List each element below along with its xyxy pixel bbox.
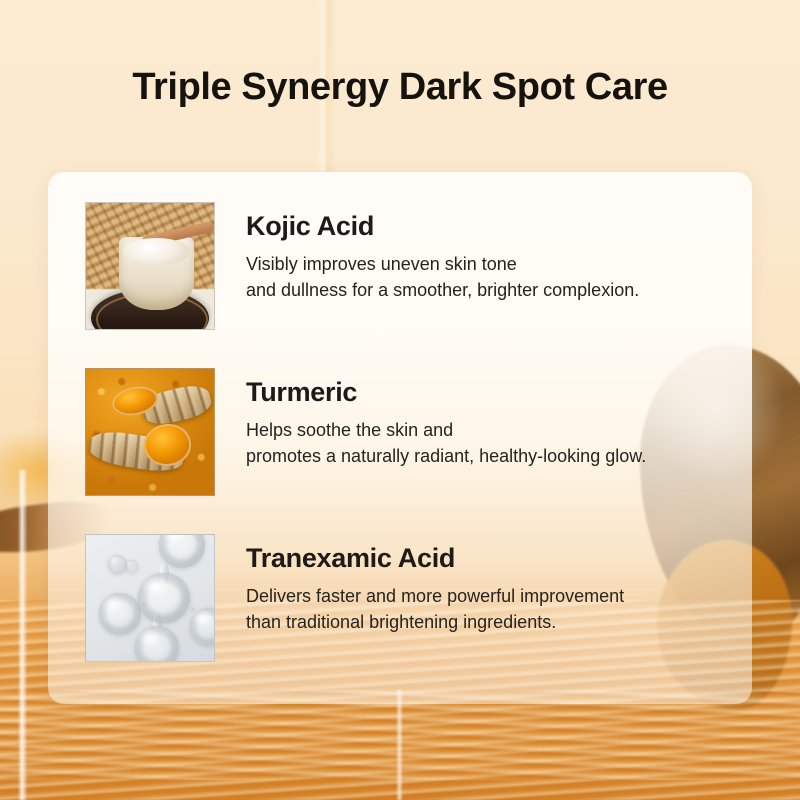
ingredient-name: Tranexamic Acid <box>246 542 624 574</box>
white-paste-shape <box>123 238 190 264</box>
turmeric-image <box>85 368 215 496</box>
molecule-sphere <box>99 593 141 635</box>
ingredient-description-line-1: Visibly improves uneven skin tone <box>246 251 639 277</box>
molecule-bubble <box>126 560 139 573</box>
ingredient-panel: Kojic Acid Visibly improves uneven skin … <box>48 172 752 704</box>
background-glass-jar-edge-left <box>18 470 27 800</box>
ingredient-description-line-2: than traditional brightening ingredients… <box>246 609 624 635</box>
turmeric-text-block: Turmeric Helps soothe the skin and promo… <box>246 358 646 469</box>
ingredient-description-line-1: Helps soothe the skin and <box>246 417 646 443</box>
molecule-sphere <box>135 626 180 662</box>
ingredient-card-tranexamic-acid: Tranexamic Acid Delivers faster and more… <box>48 524 752 692</box>
molecule-sphere <box>190 608 215 646</box>
ingredient-name: Turmeric <box>246 376 646 408</box>
background-glass-jar-edge-center <box>396 690 403 800</box>
kojic-acid-text-block: Kojic Acid Visibly improves uneven skin … <box>246 192 639 303</box>
page-title: Triple Synergy Dark Spot Care <box>0 64 800 110</box>
ingredient-description-line-2: promotes a naturally radiant, healthy-lo… <box>246 443 646 469</box>
molecule-bubble <box>108 555 127 574</box>
ingredient-description-line-2: and dullness for a smoother, brighter co… <box>246 277 639 303</box>
ingredient-card-kojic-acid: Kojic Acid Visibly improves uneven skin … <box>48 192 752 360</box>
ingredient-description-line-1: Delivers faster and more powerful improv… <box>246 583 624 609</box>
ingredient-card-turmeric: Turmeric Helps soothe the skin and promo… <box>48 358 752 526</box>
molecule-sphere <box>138 573 189 623</box>
kojic-acid-image <box>85 202 215 330</box>
tranexamic-acid-image <box>85 534 215 662</box>
tranexamic-acid-text-block: Tranexamic Acid Delivers faster and more… <box>246 524 624 635</box>
product-ingredient-infographic: Triple Synergy Dark Spot Care Kojic Acid… <box>0 0 800 800</box>
ingredient-name: Kojic Acid <box>246 210 639 242</box>
